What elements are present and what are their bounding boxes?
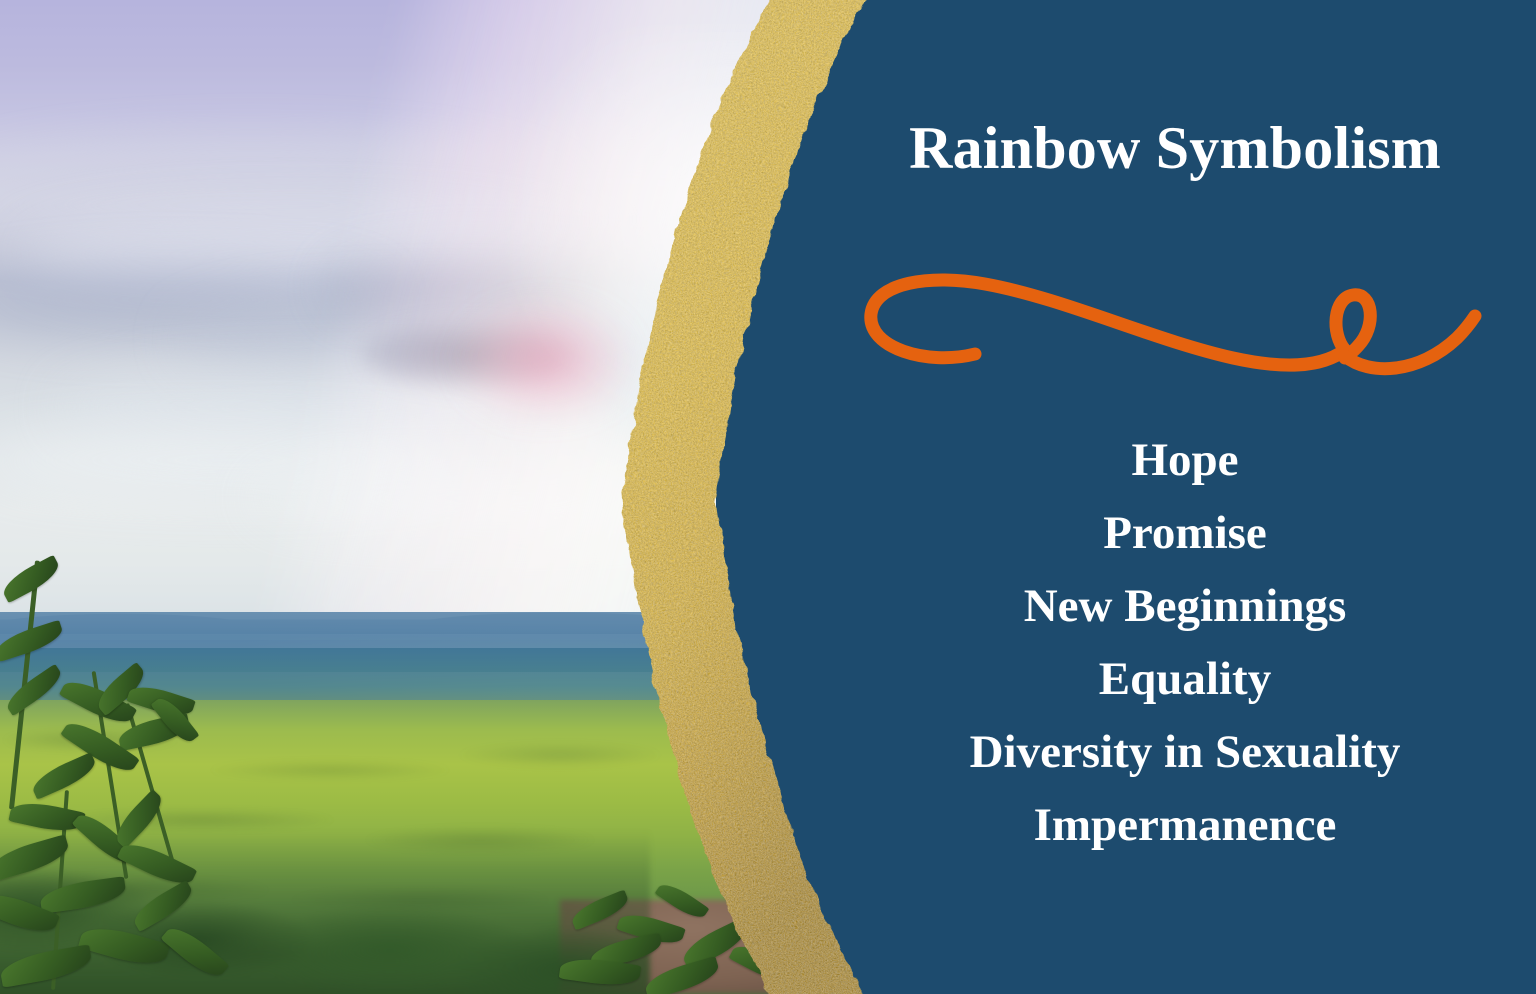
list-item: Promise xyxy=(845,497,1525,570)
poster-canvas: Rainbow Symbolism Hope Promise New Begin… xyxy=(0,0,1536,994)
card-content: Rainbow Symbolism Hope Promise New Begin… xyxy=(845,0,1536,994)
foreground-branch xyxy=(0,560,330,994)
list-item: Equality xyxy=(845,643,1525,716)
list-item: Hope xyxy=(845,424,1525,497)
orange-flourish-swash-icon xyxy=(853,268,1493,378)
pink-cloud-patch xyxy=(455,300,635,420)
list-item: Diversity in Sexuality xyxy=(845,716,1525,789)
list-item: New Beginnings xyxy=(845,570,1525,643)
symbolism-list: Hope Promise New Beginnings Equality Div… xyxy=(845,424,1525,862)
page-title: Rainbow Symbolism xyxy=(845,118,1505,178)
list-item: Impermanence xyxy=(845,789,1525,862)
